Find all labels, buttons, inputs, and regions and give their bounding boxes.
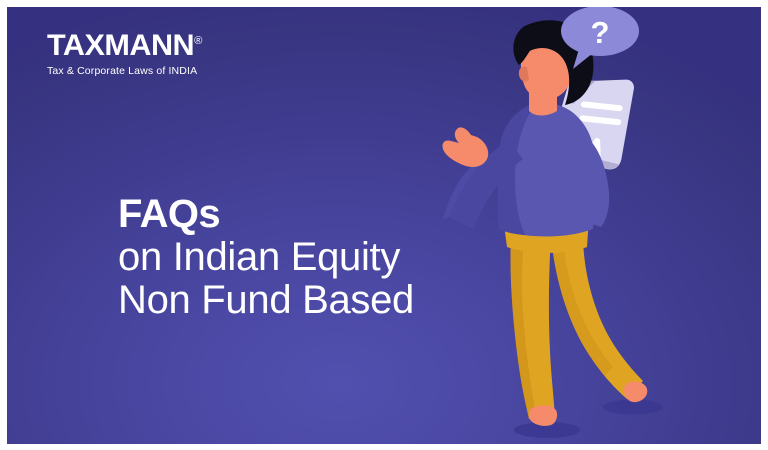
- registered-trademark-icon: ®: [194, 35, 202, 47]
- page-title: FAQs on Indian Equity Non Fund Based: [118, 193, 414, 323]
- speech-bubble-text: ?: [591, 15, 610, 50]
- logo-wordmark: TAXMANN®: [47, 31, 261, 61]
- headline-line-2: on Indian Equity: [118, 236, 414, 279]
- taxmann-logo[interactable]: TAXMANN® Tax & Corporate Laws of INDIA: [47, 31, 257, 77]
- logo-tagline: Tax & Corporate Laws of INDIA: [47, 66, 257, 77]
- banner-frame: TAXMANN® Tax & Corporate Laws of INDIA F…: [0, 0, 768, 450]
- foot-right: [624, 382, 647, 403]
- pointing-hand: [442, 127, 488, 167]
- legs: [503, 217, 643, 419]
- logo-wordmark-text: TAXMANN: [47, 29, 194, 62]
- banner-background: TAXMANN® Tax & Corporate Laws of INDIA F…: [7, 7, 761, 444]
- headline-line-1: FAQs: [118, 193, 414, 236]
- hero-illustration: ?: [437, 7, 761, 444]
- headline-line-3: Non Fund Based: [118, 279, 414, 322]
